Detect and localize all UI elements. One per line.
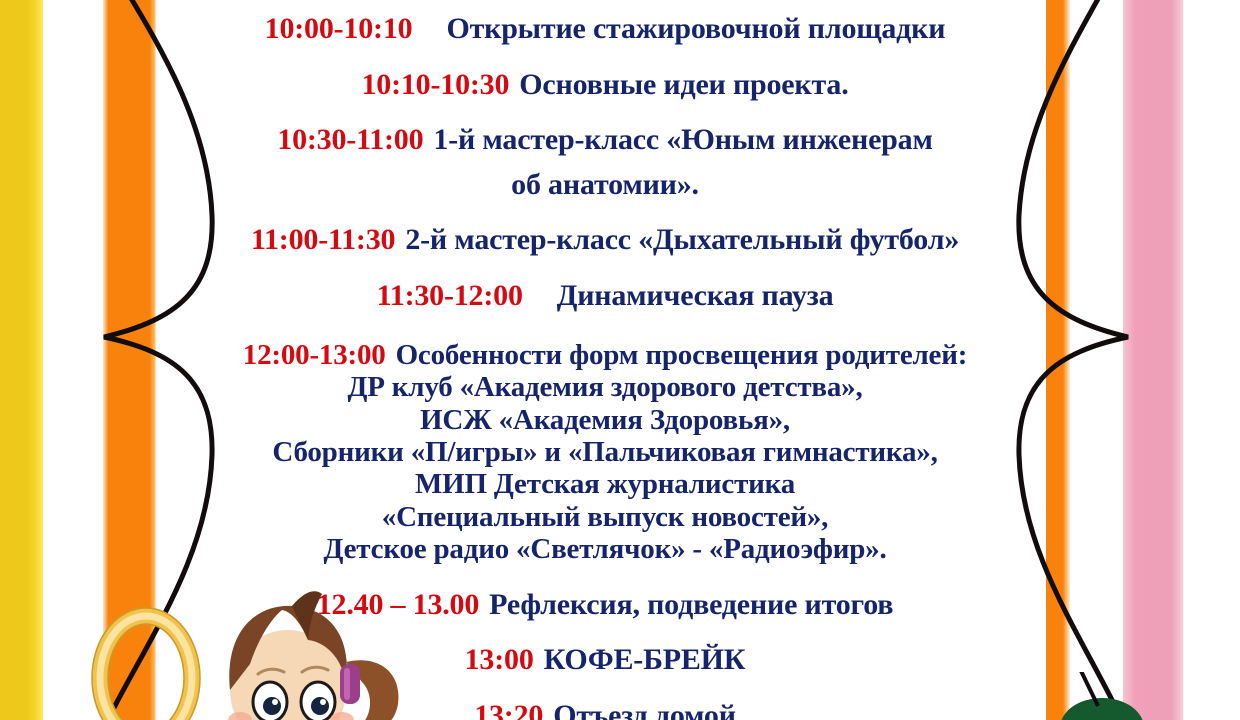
agenda-sub-item: МИП Детская журналистика — [160, 468, 1050, 500]
agenda-text: Рефлексия, подведение итогов — [489, 588, 893, 621]
agenda-row: 13:00КОФЕ-БРЕЙК — [160, 643, 1050, 677]
agenda-time: 11:00-11:30 — [251, 223, 395, 256]
agenda-text: Основные идеи проекта. — [519, 68, 848, 101]
agenda-sub-item: ИСЖ «Академия Здоровья», — [160, 404, 1050, 436]
agenda-sub-item-label: Детское радио «Светлячок» - «Радиоэфир». — [324, 533, 887, 565]
agenda-row: 10:10-10:30Основные идеи проекта. — [160, 68, 1050, 102]
green-hill-icon — [1060, 672, 1150, 720]
agenda-sub-item: ДР клуб «Академия здорового детства», — [160, 371, 1050, 403]
agenda-text: Открытие стажировочной площадки — [446, 12, 945, 45]
agenda-time: 10:30-11:00 — [277, 123, 423, 156]
agenda-sub-item: «Специальный выпуск новостей», — [160, 501, 1050, 533]
agenda-sub-item-label: МИП Детская журналистика — [415, 468, 795, 500]
agenda-row: 10:30-11:001-й мастер-класс «Юным инжене… — [160, 123, 1050, 157]
agenda-time: 12:00-13:00 — [243, 339, 386, 371]
agenda-row: 10:00-10:10Открытие стажировочной площад… — [160, 0, 1050, 46]
agenda-row: 13:20Отъезд домой — [160, 699, 1050, 720]
presentation-slide: 10:00-10:10Открытие стажировочной площад… — [0, 0, 1240, 720]
agenda-row: 12:00-13:00Особенности форм просвещения … — [160, 339, 1050, 371]
agenda-time: 10:00-10:10 — [265, 12, 413, 45]
agenda-sub-item-label: Сборники «П/игры» и «Пальчиковая гимнаст… — [272, 436, 937, 468]
agenda-text: КОФЕ-БРЕЙК — [544, 643, 746, 676]
agenda-sub-item: Сборники «П/игры» и «Пальчиковая гимнаст… — [160, 436, 1050, 468]
agenda-row-continuation: об анатомии». — [160, 168, 1050, 202]
agenda-text: 2-й мастер-класс «Дыхательный футбол» — [405, 223, 959, 256]
agenda-sub-item-label: ИСЖ «Академия Здоровья», — [420, 404, 790, 436]
agenda-list: 10:00-10:10Открытие стажировочной площад… — [160, 0, 1050, 720]
agenda-time: 13:20 — [474, 699, 543, 720]
agenda-time: 11:30-12:00 — [377, 279, 523, 312]
agenda-sub-item: Детское радио «Светлячок» - «Радиоэфир». — [160, 533, 1050, 565]
decorative-stripe-yellow-left — [0, 0, 43, 720]
agenda-sub-item-label: «Специальный выпуск новостей», — [382, 501, 828, 533]
agenda-time: 10:10-10:30 — [361, 68, 509, 101]
agenda-text: Особенности форм просвещения родителей: — [396, 339, 968, 371]
agenda-row: 12.40 – 13.00Рефлексия, подведение итого… — [160, 588, 1050, 622]
agenda-text: об анатомии». — [511, 168, 699, 201]
agenda-text: 1-й мастер-класс «Юным инженерам — [433, 123, 932, 156]
agenda-row: 11:30-12:00Динамическая пауза — [160, 279, 1050, 313]
agenda-time: 12.40 – 13.00 — [317, 588, 479, 621]
decorative-stripe-pink-right — [1123, 0, 1183, 720]
agenda-row: 11:00-11:302-й мастер-класс «Дыхательный… — [160, 223, 1050, 257]
agenda-sub-item-label: ДР клуб «Академия здорового детства», — [347, 371, 862, 403]
agenda-time: 13:00 — [465, 643, 534, 676]
agenda-text: Динамическая пауза — [557, 279, 834, 312]
agenda-text: Отъезд домой — [553, 699, 736, 720]
